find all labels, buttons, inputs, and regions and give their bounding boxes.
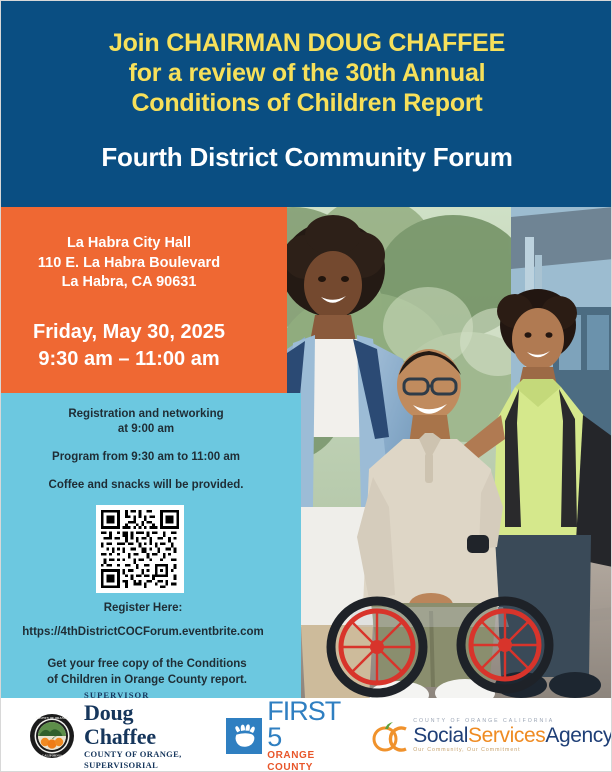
ssa-word-agency: Agency — [545, 724, 612, 747]
event-time: 9:30 am – 11:00 am — [1, 346, 257, 373]
flyer-subtitle: Fourth District Community Forum — [101, 142, 512, 172]
first5-region: ORANGE COUNTY — [267, 750, 348, 772]
details-panel: Registration and networking at 9:00 am P… — [1, 393, 301, 698]
first5-name: FIRST 5 — [267, 698, 348, 750]
register-url[interactable]: https://4thDistrictCOCForum.eventbrite.c… — [1, 625, 301, 641]
children-photo — [253, 207, 612, 698]
qr-code-icon[interactable] — [96, 505, 184, 593]
venue-line-3: La Habra, CA 90631 — [1, 273, 257, 293]
program-time: Program from 9:30 am to 11:00 am — [1, 450, 301, 465]
first5-text-block: FIRST 5 ORANGE COUNTY — [267, 698, 348, 772]
svg-text:CALIFORNIA: CALIFORNIA — [42, 753, 63, 757]
doug-chaffee-logo: COUNTY OF ORANGE CALIFORNIA SUPERVISOR D… — [29, 690, 190, 772]
svg-text:COUNTY OF ORANGE: COUNTY OF ORANGE — [36, 716, 69, 720]
registration-line-1: Registration and networking — [1, 407, 301, 422]
venue-line-1: La Habra City Hall — [1, 234, 257, 254]
registration-line-2: at 9:00 am — [1, 422, 301, 437]
venue-panel: La Habra City Hall 110 E. La Habra Boule… — [1, 207, 287, 393]
report-offer-line-2: of Children in Orange County report. — [15, 672, 279, 688]
headline-line-2: for a review of the 30th Annual — [129, 58, 486, 88]
ssa-word-social: Social — [413, 724, 468, 747]
chaffee-text-block: SUPERVISOR Doug Chaffee COUNTY OF ORANGE… — [84, 690, 190, 772]
department-line-2: SUPERVISORIAL DISTRICT 4 — [84, 760, 190, 772]
venue-address: La Habra City Hall 110 E. La Habra Boule… — [1, 234, 287, 293]
ssa-name: SocialServicesAgency — [413, 725, 612, 747]
headline-line-1: Join CHAIRMAN DOUG CHAFFEE — [109, 28, 505, 58]
refreshments-note: Coffee and snacks will be provided. — [1, 478, 301, 493]
ssa-tagline: Our Community, Our Commitment — [413, 747, 612, 754]
hand-icon — [226, 718, 262, 754]
report-offer: Get your free copy of the Conditions of … — [1, 656, 301, 688]
ssa-word-services: Services — [468, 724, 545, 747]
orange-oc-icon — [372, 719, 412, 753]
ssa-text-block: COUNTY OF ORANGE CALIFORNIA SocialServic… — [413, 718, 612, 754]
report-offer-line-1: Get your free copy of the Conditions — [15, 656, 279, 672]
department-line-1: COUNTY OF ORANGE, — [84, 749, 190, 760]
first5-logo: FIRST 5 ORANGE COUNTY — [226, 698, 348, 772]
event-datetime: Friday, May 30, 2025 9:30 am – 11:00 am — [1, 319, 287, 373]
event-date: Friday, May 30, 2025 — [1, 319, 257, 346]
supervisor-label: SUPERVISOR — [84, 690, 190, 701]
qr-code-wrapper — [1, 505, 301, 593]
venue-line-2: 110 E. La Habra Boulevard — [1, 254, 257, 274]
flyer-footer: COUNTY OF ORANGE CALIFORNIA SUPERVISOR D… — [1, 698, 612, 772]
supervisor-name: Doug Chaffee — [84, 701, 190, 749]
event-flyer: Join CHAIRMAN DOUG CHAFFEE for a review … — [0, 0, 612, 772]
register-here-label: Register Here: — [1, 601, 301, 617]
county-of-orange-seal-icon: COUNTY OF ORANGE CALIFORNIA — [29, 713, 75, 759]
headline-line-3: Conditions of Children Report — [131, 88, 482, 118]
flyer-header: Join CHAIRMAN DOUG CHAFFEE for a review … — [1, 1, 612, 207]
social-services-agency-logo: COUNTY OF ORANGE CALIFORNIA SocialServic… — [372, 718, 612, 754]
